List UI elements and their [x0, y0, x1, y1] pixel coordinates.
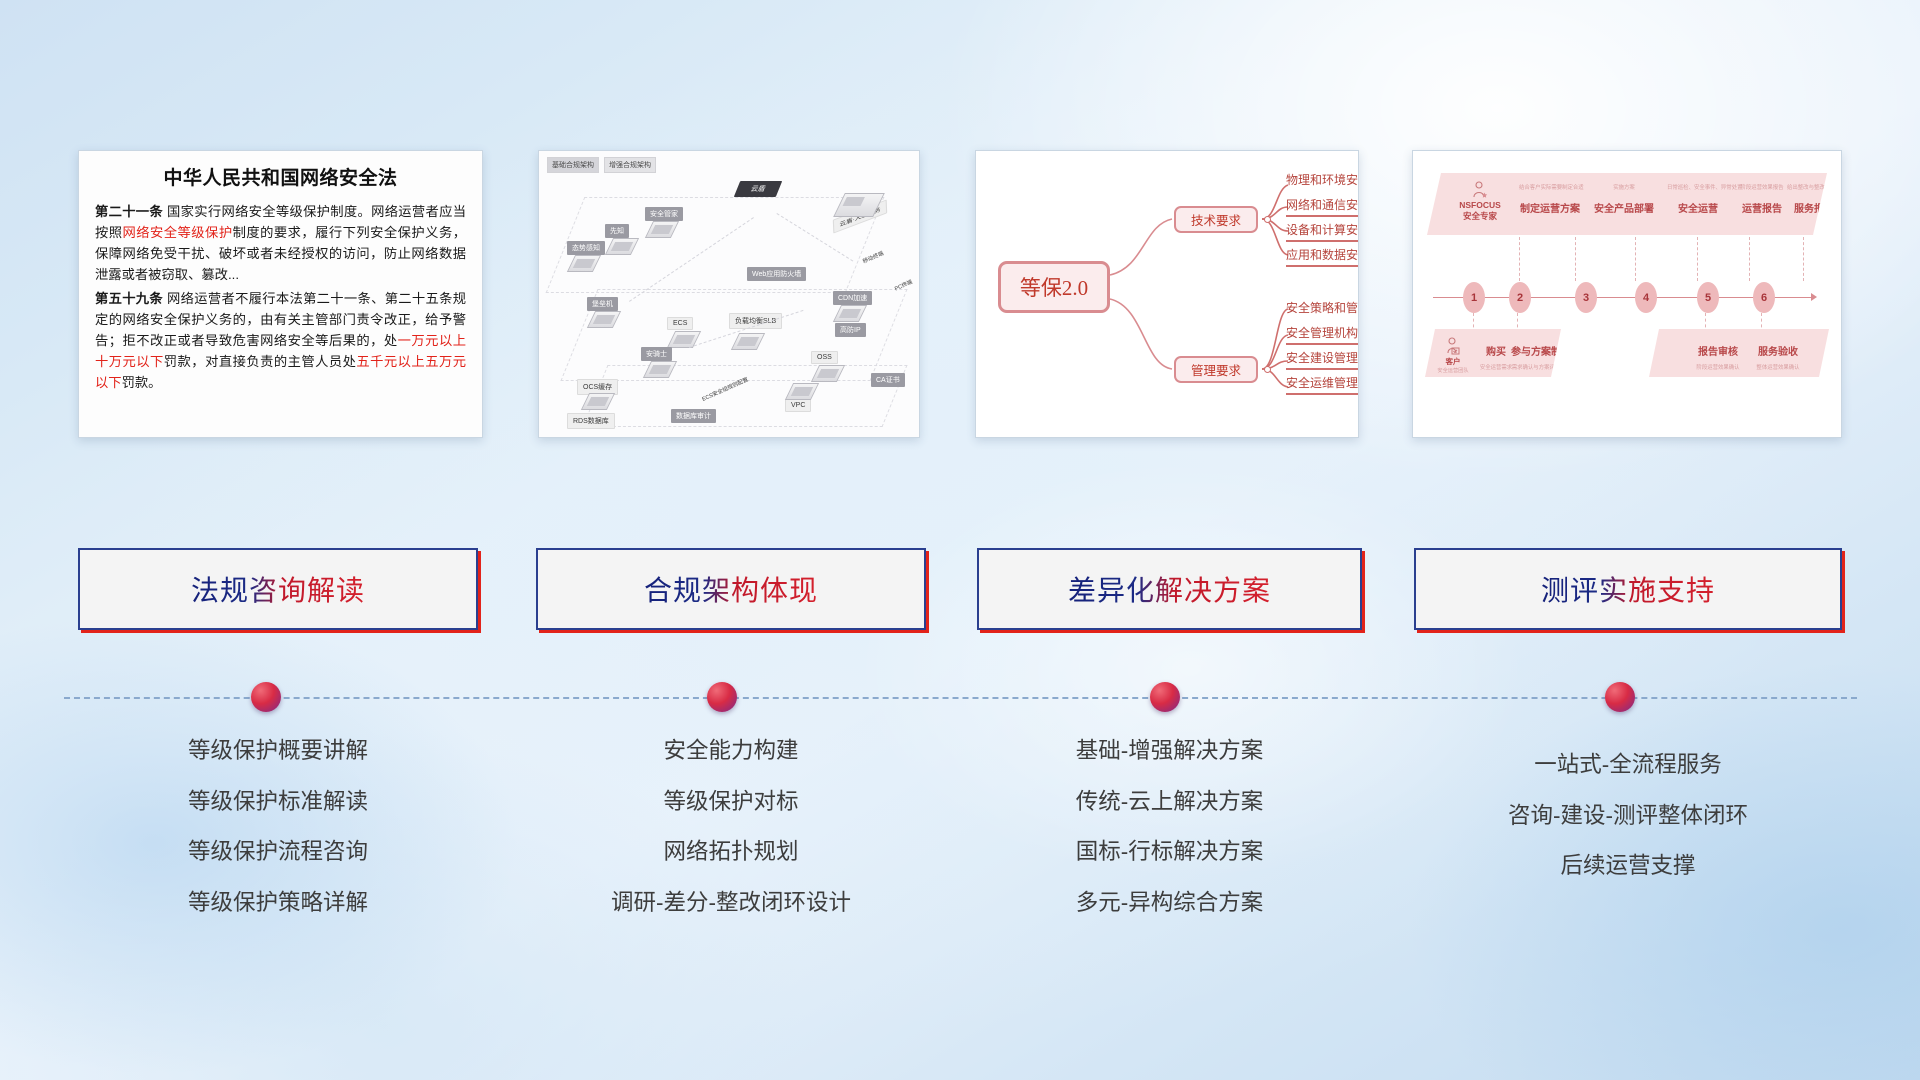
mindmap-root-node: 等保2.0 — [998, 261, 1110, 313]
timeline-step-6[interactable]: 6 — [1753, 282, 1775, 313]
column-header-1-label: 法规咨询解读 — [191, 569, 365, 609]
expert-person-icon — [1472, 181, 1488, 199]
tick-2 — [1575, 237, 1576, 281]
arch-node-oss: OSS — [811, 351, 838, 364]
top-step-2-sub: 实施方案 — [1593, 183, 1655, 191]
column-header-3-label: 差异化解决方案 — [1068, 569, 1271, 609]
arch-node-slb: 负载均衡SLB — [729, 313, 782, 329]
axis-bullet-2[interactable] — [707, 682, 737, 712]
bottom-step-3: 报告审核 阶段运营效果确认 — [1693, 343, 1743, 371]
architecture-canvas: 基础合规架构 增强合规架构 云盾 安全管家 先知 态势感知 云盾·人工服务 堡垒… — [539, 151, 919, 437]
timeline-step-2[interactable]: 2 — [1509, 282, 1531, 313]
timeline-step-4[interactable]: 4 — [1635, 282, 1657, 313]
list-item: 等级保护策略详解 — [78, 892, 478, 915]
arch-node-waf: Web应用防火墙 — [747, 267, 806, 281]
top-step-5: 给出整改与整改后云上整体运营效果 服务报告 — [1787, 183, 1841, 215]
axis-bullet-4[interactable] — [1605, 682, 1635, 712]
arch-node-db-audit: 数据库审计 — [671, 409, 716, 423]
arch-node-security-butler: 安全管家 — [645, 207, 683, 221]
list-item: 等级保护标准解读 — [78, 791, 478, 814]
bottom-step-2-main: 参与方案制定 — [1511, 343, 1561, 358]
bottom-step-3-sub: 阶段运营效果确认 — [1693, 363, 1743, 371]
law-title: 中华人民共和国网络安全法 — [95, 163, 466, 190]
bottom-step-4-main: 服务验收 — [1753, 343, 1803, 358]
timeline-step-1[interactable]: 1 — [1463, 282, 1485, 313]
list-item: 后续运营支撑 — [1414, 855, 1842, 878]
top-step-2-main: 安全产品部署 — [1593, 200, 1655, 215]
architecture-tabs: 基础合规架构 增强合规架构 — [547, 157, 656, 173]
top-step-3: 日常巡检、安全事件、异常处置 安全运营 — [1667, 183, 1729, 215]
nsfocus-canvas: NSFOCUS 安全专家 结合客户实际需要制定合适 制定运营方案 实施方案 安全… — [1413, 151, 1841, 437]
customer-person-icon — [1446, 337, 1460, 355]
list-item: 国标-行标解决方案 — [977, 841, 1362, 864]
column-header-2-label: 合规架构体现 — [644, 569, 818, 609]
article-59-post: 罚款。 — [122, 375, 162, 390]
tick-3 — [1635, 237, 1636, 281]
top-step-2: 实施方案 安全产品部署 — [1593, 183, 1655, 215]
customer-sub-label: 安全运营团队 — [1433, 367, 1473, 374]
arch-node-xianzhi: 先知 — [605, 224, 629, 238]
customer-role-label: 客户 — [1433, 356, 1473, 367]
mindmap-leaf-construction-mgmt: 安全建设管理 — [1286, 349, 1358, 370]
mindmap-leaf-policy-system: 安全策略和管理制度 — [1286, 299, 1359, 318]
bottom-step-2-sub: 需求确认与方案评审 — [1511, 363, 1561, 371]
list-item: 安全能力构建 — [536, 740, 926, 763]
list-item: 调研-差分-整改闭环设计 — [536, 892, 926, 915]
top-step-3-main: 安全运营 — [1667, 200, 1729, 215]
nsfocus-brand-label: NSFOCUS — [1451, 200, 1509, 210]
law-text-body: 中华人民共和国网络安全法 第二十一条 国家实行网络安全等级保护制度。网络运营者应… — [79, 151, 482, 404]
nsfocus-bottom-band-right: 报告审核 阶段运营效果确认 服务验收 整体运营效果确认 — [1649, 329, 1829, 377]
arch-node-vpc: VPC — [785, 399, 811, 412]
law-article-59: 第五十九条 网络运营者不履行本法第二十一条、第二十五条规定的网络安全保护义务的，… — [95, 288, 466, 393]
top-step-5-main: 服务报告 — [1787, 200, 1841, 215]
mindmap-leaf-device-compute: 设备和计算安全 — [1286, 221, 1359, 242]
mindmap-leaf-ops-mgmt: 安全运维管理 — [1286, 374, 1358, 395]
article-21-highlight: 网络安全等级保护 — [123, 225, 233, 240]
arch-node-cloud-shield: 云盾 — [734, 181, 782, 197]
mindmap-leaf-physical-env: 物理和环境安全 — [1286, 171, 1359, 190]
card-nsfocus-timeline: NSFOCUS 安全专家 结合客户实际需要制定合适 制定运营方案 实施方案 安全… — [1412, 150, 1842, 438]
top-step-1-main: 制定运营方案 — [1519, 200, 1581, 215]
arch-node-bastion-host: 堡垒机 — [587, 297, 618, 311]
nsfocus-top-band: NSFOCUS 安全专家 结合客户实际需要制定合适 制定运营方案 实施方案 安全… — [1427, 173, 1827, 235]
list-item: 多元-异构综合方案 — [977, 892, 1362, 915]
list-item: 等级保护概要讲解 — [78, 740, 478, 763]
bottom-step-1-sub: 安全运营需求 — [1477, 363, 1515, 371]
mindmap-branch-technical: 技术要求 — [1174, 206, 1258, 233]
axis-bullet-1[interactable] — [251, 682, 281, 712]
list-item: 等级保护对标 — [536, 791, 926, 814]
top-step-4-main: 运营报告 — [1737, 200, 1787, 215]
mindmap-leaf-org-personnel: 安全管理机构和人员 — [1286, 324, 1359, 345]
timeline-step-3[interactable]: 3 — [1575, 282, 1597, 313]
list-item: 基础-增强解决方案 — [977, 740, 1362, 763]
bottom-step-1: 购买 安全运营需求 — [1477, 343, 1515, 371]
card-mindmap: 等保2.0 技术要求 物理和环境安全 网络和通信安全 设备和计算安全 应用和数据… — [975, 150, 1359, 438]
tick-4 — [1697, 237, 1698, 281]
nsfocus-bottom-band-left: 客户 安全运营团队 购买 安全运营需求 参与方案制定 需求确认与方案评审 — [1425, 329, 1561, 377]
column-header-3[interactable]: 差异化解决方案 — [977, 548, 1362, 630]
card-row: 中华人民共和国网络安全法 第二十一条 国家实行网络安全等级保护制度。网络运营者应… — [0, 150, 1920, 440]
mindmap-branch-management: 管理要求 — [1174, 356, 1258, 383]
tick-5 — [1749, 237, 1750, 281]
tab-enhanced-architecture[interactable]: 增强合规架构 — [604, 157, 656, 173]
column-list-3: 基础-增强解决方案 传统-云上解决方案 国标-行标解决方案 多元-异构综合方案 — [977, 740, 1362, 942]
column-header-2[interactable]: 合规架构体现 — [536, 548, 926, 630]
arch-node-anti-ddos-ip: 高防IP — [835, 323, 866, 337]
slide-root: 中华人民共和国网络安全法 第二十一条 国家实行网络安全等级保护制度。网络运营者应… — [0, 0, 1920, 1080]
timeline-step-5[interactable]: 5 — [1697, 282, 1719, 313]
column-header-1[interactable]: 法规咨询解读 — [78, 548, 478, 630]
arch-node-rds-db: RDS数据库 — [567, 413, 615, 429]
top-step-1: 结合客户实际需要制定合适 制定运营方案 — [1519, 183, 1581, 215]
bottom-step-1-main: 购买 — [1477, 343, 1515, 358]
arch-node-cdn: CDN加速 — [833, 291, 872, 305]
mindmap-dot-management[interactable] — [1264, 366, 1271, 373]
top-step-1-sub: 结合客户实际需要制定合适 — [1519, 183, 1581, 191]
tick-1 — [1519, 237, 1520, 281]
top-step-4-sub: 阶段运营效果报告 — [1737, 183, 1787, 191]
bottom-step-4: 服务验收 整体运营效果确认 — [1753, 343, 1803, 371]
column-header-4[interactable]: 测评实施支持 — [1414, 548, 1842, 630]
arch-node-situation-awareness: 态势感知 — [567, 241, 605, 255]
tab-basic-architecture[interactable]: 基础合规架构 — [547, 157, 599, 173]
card-architecture-diagram: 基础合规架构 增强合规架构 云盾 安全管家 先知 态势感知 云盾·人工服务 堡垒… — [538, 150, 920, 438]
mindmap-canvas: 等保2.0 技术要求 物理和环境安全 网络和通信安全 设备和计算安全 应用和数据… — [976, 151, 1358, 437]
mindmap-leaf-network-comm: 网络和通信安全 — [1286, 196, 1359, 217]
article-59-label: 第五十九条 — [95, 291, 163, 306]
law-article-21: 第二十一条 国家实行网络安全等级保护制度。网络运营者应当按照网络安全等级保护制度… — [95, 201, 466, 285]
article-21-label: 第二十一条 — [95, 204, 163, 219]
mindmap-leaf-app-data: 应用和数据安全 — [1286, 246, 1359, 267]
axis-bullet-3[interactable] — [1150, 682, 1180, 712]
top-step-5-sub: 给出整改与整改后云上整体运营效果 — [1787, 183, 1841, 191]
column-header-4-label: 测评实施支持 — [1541, 569, 1715, 609]
list-item: 等级保护流程咨询 — [78, 841, 478, 864]
bottom-step-4-sub: 整体运营效果确认 — [1753, 363, 1803, 371]
arch-node-ecs: ECS — [667, 317, 693, 330]
progress-axis — [64, 697, 1857, 699]
list-item: 咨询-建设-测评整体闭环 — [1414, 805, 1842, 828]
column-list-4: 一站式-全流程服务 咨询-建设-测评整体闭环 后续运营支撑 — [1414, 754, 1842, 906]
bottom-step-3-main: 报告审核 — [1693, 343, 1743, 358]
top-step-4: 阶段运营效果报告 运营报告 — [1737, 183, 1787, 215]
column-list-2: 安全能力构建 等级保护对标 网络拓扑规划 调研-差分-整改闭环设计 — [536, 740, 926, 942]
arch-node-ca-cert: CA证书 — [871, 373, 905, 387]
mindmap-dot-technical[interactable] — [1264, 216, 1271, 223]
list-item: 传统-云上解决方案 — [977, 791, 1362, 814]
card-cybersecurity-law: 中华人民共和国网络安全法 第二十一条 国家实行网络安全等级保护制度。网络运营者应… — [78, 150, 483, 438]
list-item: 网络拓扑规划 — [536, 841, 926, 864]
list-item: 一站式-全流程服务 — [1414, 754, 1842, 777]
nsfocus-expert-role-label: 安全专家 — [1451, 210, 1509, 222]
article-59-mid: 罚款，对直接负责的主管人员处 — [164, 354, 357, 369]
arch-node-anqishi: 安骑士 — [641, 347, 672, 361]
timeline-arrow-icon — [1811, 293, 1817, 301]
tick-6 — [1803, 237, 1804, 281]
top-step-3-sub: 日常巡检、安全事件、异常处置 — [1667, 183, 1729, 191]
bottom-step-2: 参与方案制定 需求确认与方案评审 — [1511, 343, 1561, 371]
column-list-1: 等级保护概要讲解 等级保护标准解读 等级保护流程咨询 等级保护策略详解 — [78, 740, 478, 942]
